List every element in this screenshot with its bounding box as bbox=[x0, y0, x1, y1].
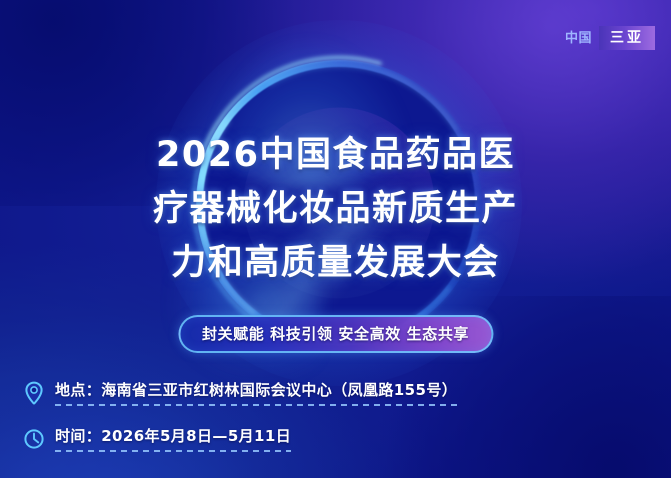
time-info-row: 时间：2026年5月8日—5月11日 bbox=[22, 426, 291, 452]
venue-underline bbox=[55, 404, 457, 406]
clock-icon bbox=[22, 426, 46, 452]
title-line-3: 力和高质量发展大会 bbox=[0, 236, 671, 290]
title-line-1: 2026中国食品药品医 bbox=[0, 128, 671, 182]
venue-text: 地点：海南省三亚市红树林国际会议中心（凤凰路155号） bbox=[55, 381, 457, 399]
conference-poster: 中国 三亚 2026中国食品药品医 疗器械化妆品新质生产 力和高质量发展大会 封… bbox=[0, 0, 671, 478]
city-badge: 中国 三亚 bbox=[565, 26, 655, 50]
page-title: 2026中国食品药品医 疗器械化妆品新质生产 力和高质量发展大会 bbox=[0, 128, 671, 290]
city-badge-city: 三亚 bbox=[599, 26, 655, 50]
time-text: 时间：2026年5月8日—5月11日 bbox=[55, 427, 291, 445]
time-underline bbox=[55, 450, 291, 452]
title-line-2: 疗器械化妆品新质生产 bbox=[0, 182, 671, 236]
map-pin-icon bbox=[22, 380, 46, 406]
slogan-text: 封关赋能 科技引领 安全高效 生态共享 bbox=[202, 327, 469, 342]
time-text-wrap: 时间：2026年5月8日—5月11日 bbox=[55, 426, 291, 452]
city-badge-country: 中国 bbox=[565, 26, 599, 50]
venue-text-wrap: 地点：海南省三亚市红树林国际会议中心（凤凰路155号） bbox=[55, 380, 457, 406]
slogan-badge: 封关赋能 科技引领 安全高效 生态共享 bbox=[178, 315, 493, 353]
venue-info-row: 地点：海南省三亚市红树林国际会议中心（凤凰路155号） bbox=[22, 380, 457, 406]
